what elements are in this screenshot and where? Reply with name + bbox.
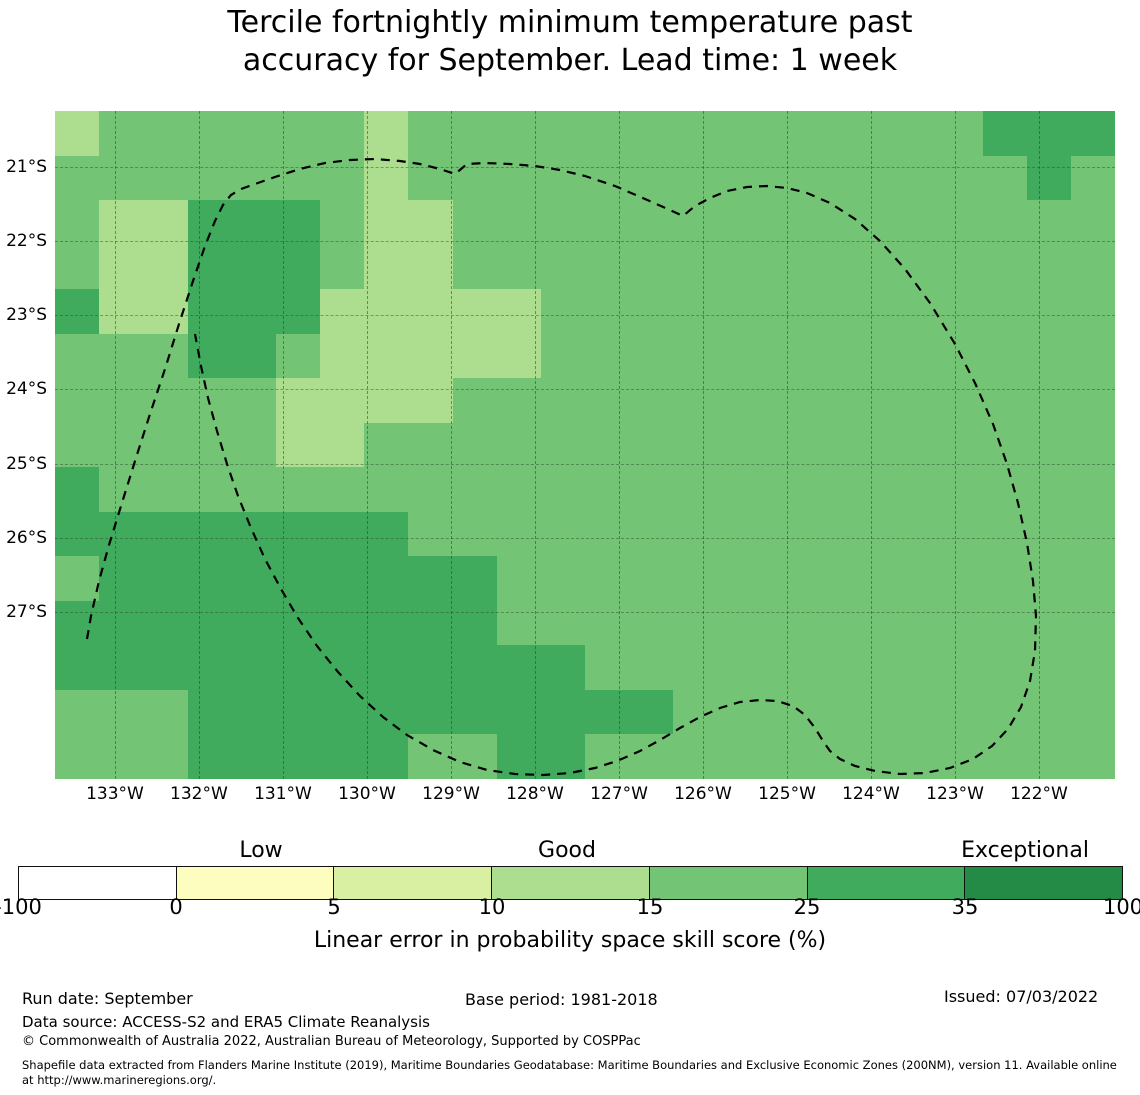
x-axis-tick-label: 127°W — [579, 786, 659, 803]
colorbar-tick-label: 15 — [590, 897, 710, 918]
footer-base-period: Base period: 1981-2018 — [465, 990, 658, 1009]
footer-shapefile-attribution: Shapefile data extracted from Flanders M… — [22, 1058, 1127, 1088]
y-axis-tick-label: 24°S — [6, 381, 47, 398]
colorbar-quality-label: Good — [437, 840, 697, 862]
colorbar-segment — [807, 867, 965, 899]
footer-data-source: Data source: ACCESS-S2 and ERA5 Climate … — [22, 1013, 430, 1031]
y-axis-tick-label: 27°S — [6, 604, 47, 621]
colorbar-tick-label: 100 — [1063, 897, 1140, 918]
y-axis-tick-label: 23°S — [6, 307, 47, 324]
colorbar-segment — [19, 867, 176, 899]
colorbar-tick-label: 10 — [432, 897, 552, 918]
colorbar-tick-label: 35 — [905, 897, 1025, 918]
map-heatmap-plot — [55, 111, 1115, 779]
colorbar-segment — [964, 867, 1122, 899]
y-axis-tick-label: 25°S — [6, 456, 47, 473]
colorbar-quality-label: Exceptional — [895, 840, 1140, 862]
y-axis-tick-label: 21°S — [6, 159, 47, 176]
y-axis-tick-label: 22°S — [6, 233, 47, 250]
colorbar-tick-label: -100 — [0, 897, 78, 918]
colorbar-segment — [649, 867, 807, 899]
footer-run-date: Run date: September — [22, 989, 193, 1008]
x-axis-tick-label: 131°W — [243, 786, 323, 803]
colorbar-quality-label: Low — [131, 840, 391, 862]
x-axis-tick-label: 132°W — [159, 786, 239, 803]
footer-issued-date: Issued: 07/03/2022 — [944, 987, 1098, 1006]
x-axis-tick-label: 133°W — [75, 786, 155, 803]
eez-boundary-layer — [55, 111, 1115, 779]
colorbar-segment — [333, 867, 491, 899]
colorbar-segment — [176, 867, 334, 899]
x-axis-tick-label: 122°W — [999, 786, 1079, 803]
page-title: Tercile fortnightly minimum temperature … — [0, 4, 1140, 80]
colorbar-tick-label: 0 — [116, 897, 236, 918]
x-axis-tick-label: 126°W — [663, 786, 743, 803]
x-axis-tick-label: 128°W — [495, 786, 575, 803]
colorbar-segment — [491, 867, 649, 899]
footer-copyright: © Commonwealth of Australia 2022, Austra… — [22, 1034, 641, 1050]
x-axis-tick-label: 124°W — [831, 786, 911, 803]
y-axis-tick-label: 26°S — [6, 530, 47, 547]
colorbar-tick-label: 25 — [747, 897, 867, 918]
colorbar-axis-label: Linear error in probability space skill … — [0, 928, 1140, 954]
eez-boundary-path — [87, 159, 1036, 775]
x-axis-tick-label: 129°W — [411, 786, 491, 803]
colorbar-tick-label: 5 — [274, 897, 394, 918]
x-axis-tick-label: 123°W — [915, 786, 995, 803]
x-axis-tick-label: 130°W — [327, 786, 407, 803]
x-axis-tick-label: 125°W — [747, 786, 827, 803]
